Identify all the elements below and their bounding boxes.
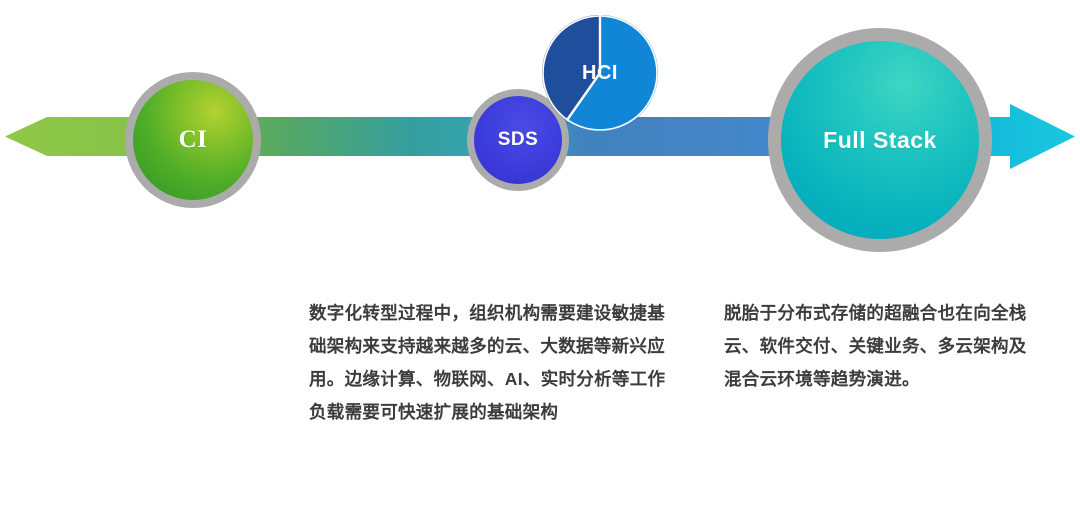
node-sds-label: SDS bbox=[498, 129, 539, 151]
hci-pie-svg bbox=[542, 15, 658, 131]
node-full-stack-disc: Full Stack bbox=[781, 41, 979, 239]
node-ci-label: CI bbox=[179, 126, 208, 154]
infographic-canvas: CI SDS HCI Full Stack 数字化转型过程中，组织机构需要建设敏… bbox=[0, 0, 1080, 517]
node-ci-disc: CI bbox=[133, 80, 253, 200]
node-ci[interactable]: CI bbox=[125, 72, 261, 208]
node-full-stack[interactable]: Full Stack bbox=[768, 28, 992, 252]
node-full-stack-label: Full Stack bbox=[823, 127, 937, 154]
description-right: 脱胎于分布式存储的超融合也在向全栈云、软件交付、关键业务、多云架构及混合云环境等… bbox=[724, 297, 1044, 396]
node-hci-pie-chart[interactable]: HCI bbox=[542, 15, 658, 131]
description-left: 数字化转型过程中，组织机构需要建设敏捷基础架构来支持越来越多的云、大数据等新兴应… bbox=[309, 297, 669, 429]
